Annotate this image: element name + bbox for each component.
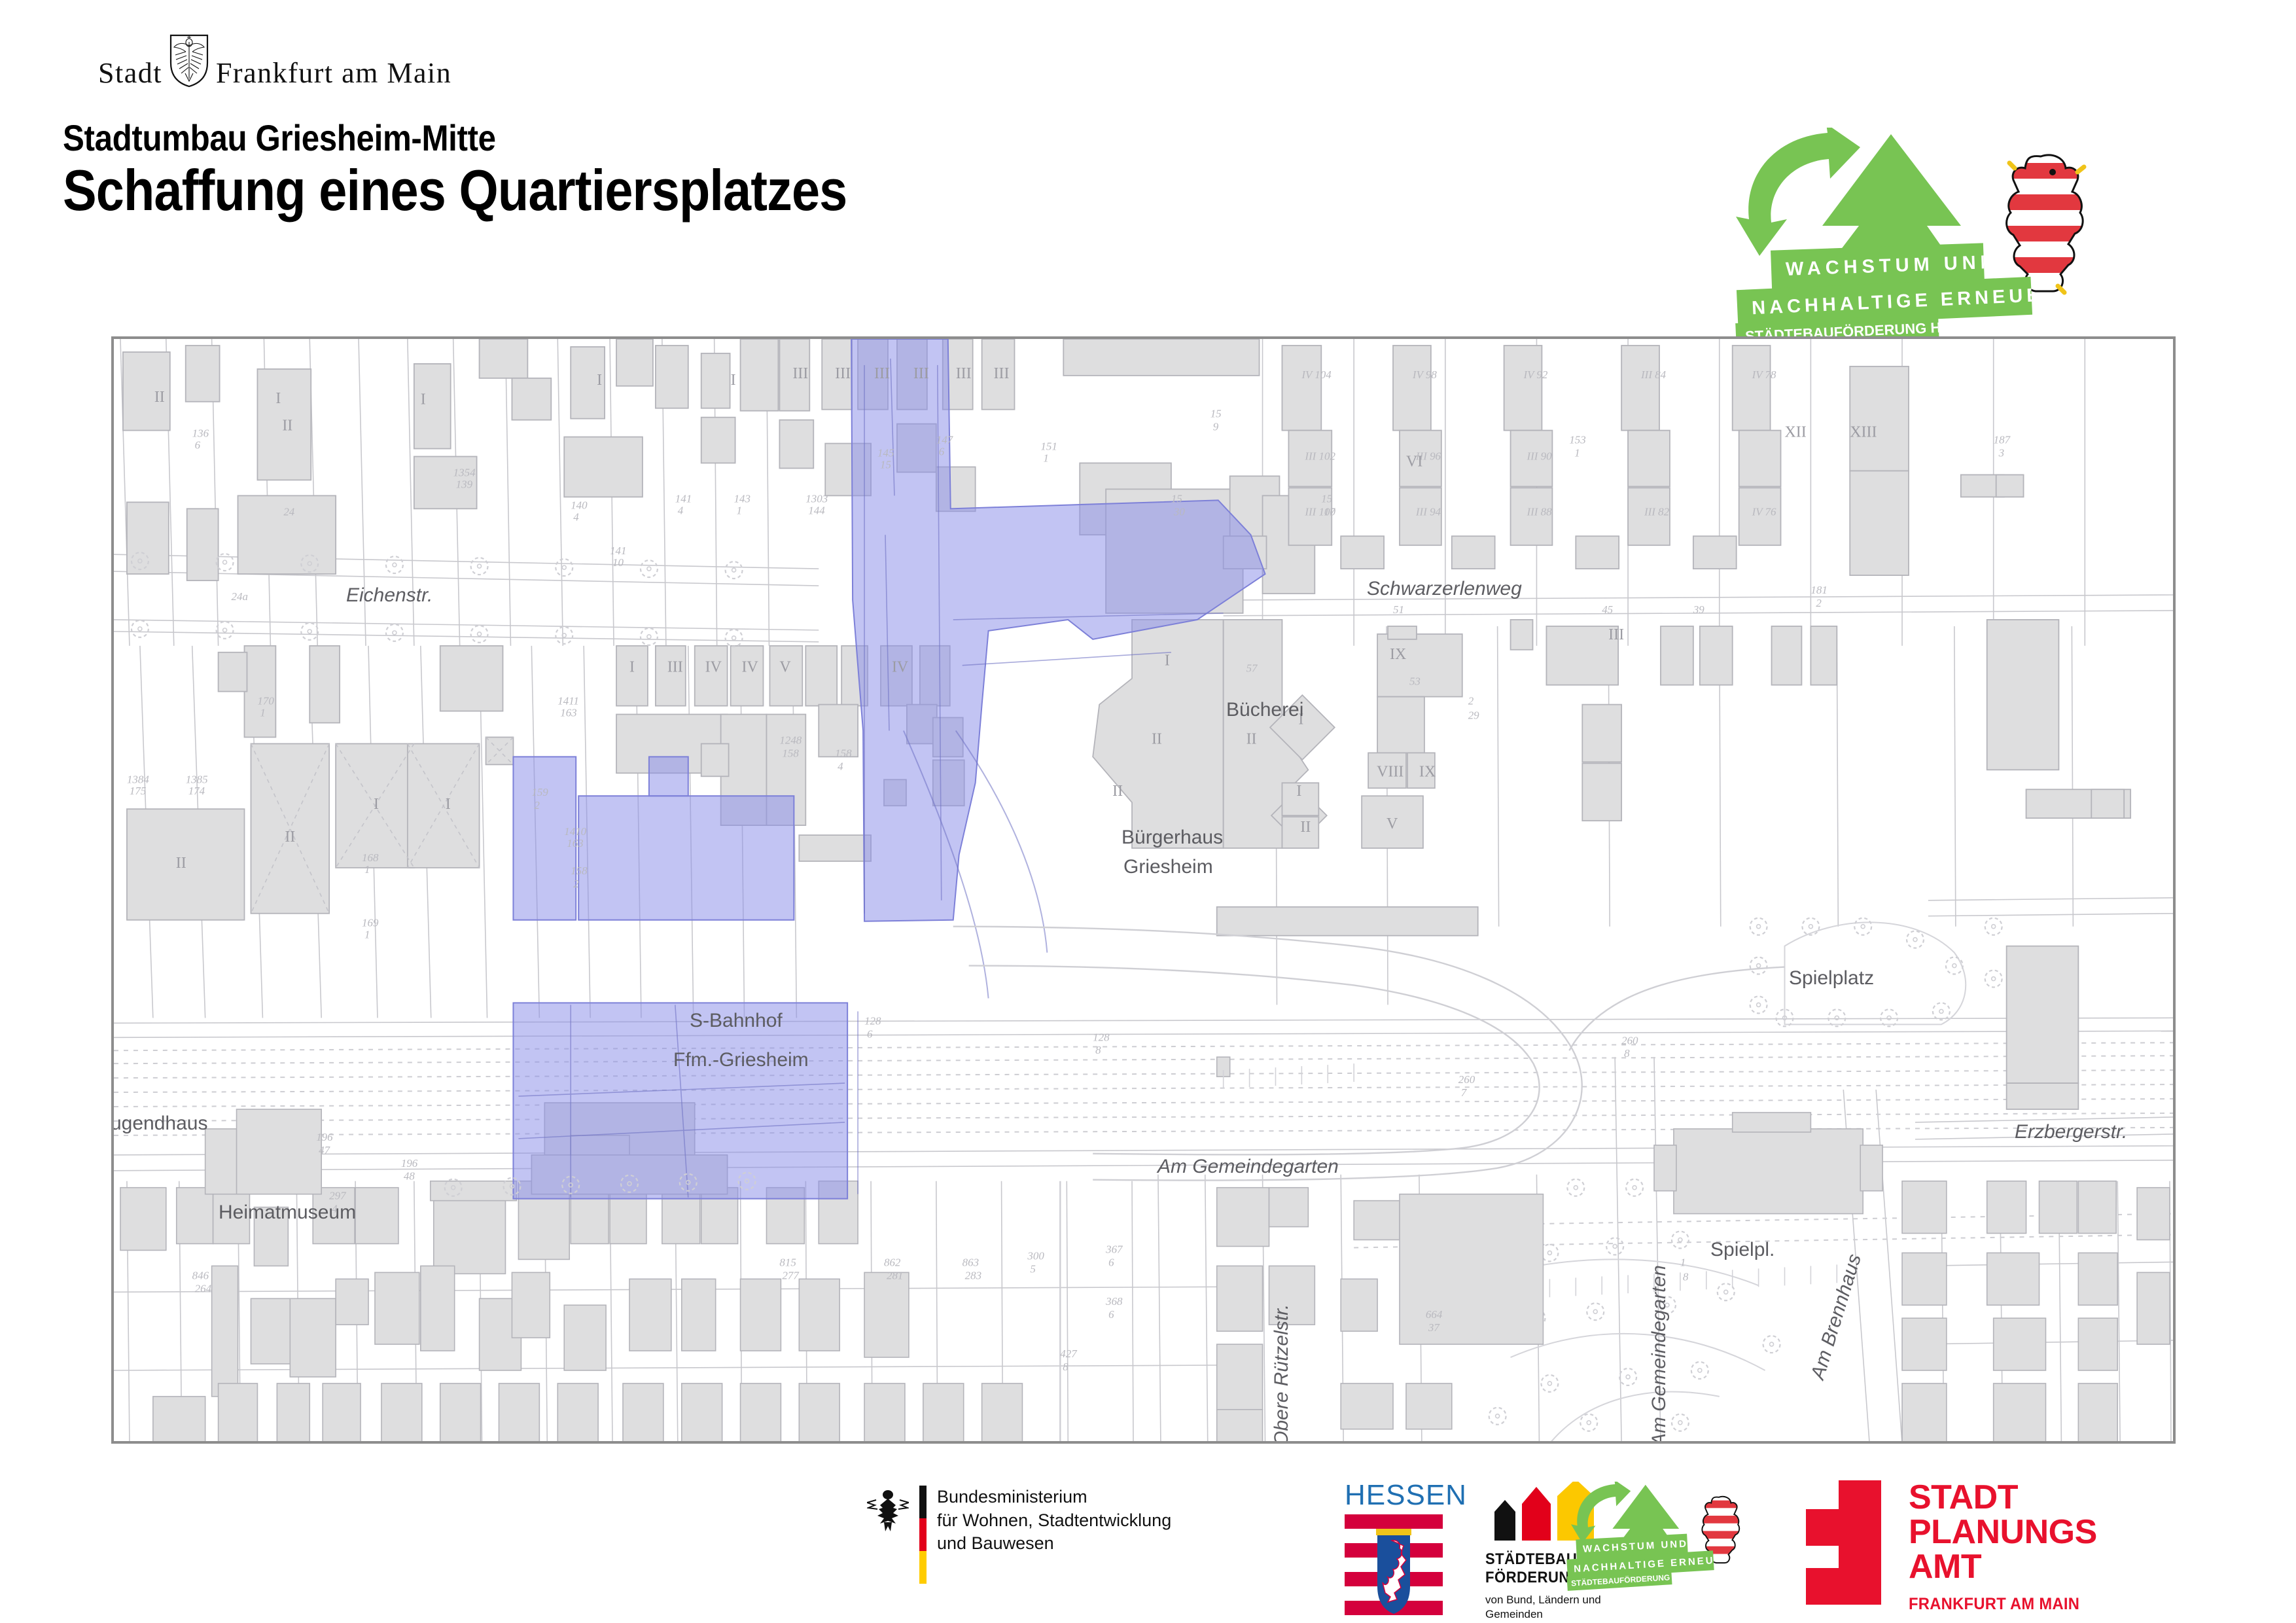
hessen-wordmark: HESSEN	[1345, 1479, 1449, 1512]
svg-text:128: 128	[1093, 1031, 1110, 1043]
svg-text:II: II	[154, 389, 165, 406]
svg-text:6: 6	[939, 446, 945, 458]
svg-text:IV 98: IV 98	[1412, 368, 1437, 381]
svg-text:297: 297	[329, 1190, 347, 1202]
city-logo-word-stadt: Stadt	[98, 59, 162, 88]
svg-text:196: 196	[316, 1131, 333, 1143]
svg-text:6: 6	[1108, 1256, 1114, 1268]
svg-text:158: 158	[571, 865, 588, 877]
svg-text:6: 6	[1108, 1308, 1114, 1321]
svg-text:37: 37	[1428, 1321, 1440, 1334]
stadtplanungsamt-wordmark: STADT PLANUNGS AMT FRANKFURT AM MAIN	[1909, 1480, 2097, 1614]
svg-text:II: II	[176, 855, 186, 872]
svg-text:158: 158	[782, 747, 799, 759]
svg-text:V: V	[779, 659, 790, 676]
hessen-logo: HESSEN	[1345, 1479, 1449, 1622]
spa-line-stadt: STADT	[1909, 1480, 2097, 1515]
svg-text:1354: 1354	[453, 466, 476, 478]
svg-text:15: 15	[1210, 408, 1222, 420]
svg-text:VIII: VIII	[1377, 763, 1404, 780]
svg-text:9: 9	[1213, 421, 1219, 433]
bmwsb-logo: Bundesministerium für Wohnen, Stadtentwi…	[867, 1486, 1171, 1584]
svg-text:141: 141	[675, 492, 692, 505]
svg-text:153: 153	[1569, 434, 1585, 446]
svg-text:III 94: III 94	[1415, 505, 1441, 518]
svg-text:II: II	[1246, 730, 1257, 747]
svg-text:863: 863	[963, 1256, 979, 1268]
spa-line-frankfurt: FRANKFURT AM MAIN	[1909, 1595, 2087, 1614]
svg-text:8: 8	[1063, 1361, 1069, 1373]
svg-text:15: 15	[1321, 492, 1332, 505]
svg-text:281: 281	[887, 1269, 903, 1281]
svg-text:III 102: III 102	[1304, 450, 1335, 463]
svg-text:1385: 1385	[186, 773, 208, 785]
svg-text:IV 76: IV 76	[1752, 505, 1776, 518]
svg-text:1303: 1303	[805, 492, 828, 505]
svg-text:1: 1	[260, 707, 265, 719]
svg-text:143: 143	[734, 492, 751, 505]
svg-text:III: III	[792, 365, 808, 382]
svg-text:187: 187	[1994, 434, 2011, 446]
svg-text:1: 1	[364, 929, 370, 941]
svg-text:862: 862	[884, 1256, 901, 1268]
svg-text:264: 264	[195, 1282, 212, 1294]
svg-text:159: 159	[531, 786, 548, 798]
svg-text:145: 145	[877, 447, 894, 459]
svg-text:I: I	[731, 372, 736, 389]
svg-text:163: 163	[560, 707, 576, 719]
frankfurt-eagle-crest-icon	[169, 34, 209, 88]
svg-text:I: I	[1165, 652, 1170, 669]
svg-text:III: III	[956, 365, 972, 382]
bmwsb-line3: und Bauwesen	[937, 1532, 1171, 1556]
svg-text:2: 2	[1816, 597, 1822, 609]
spa-line-amt: AMT	[1909, 1550, 2097, 1584]
svg-text:260: 260	[1621, 1034, 1638, 1046]
svg-text:175: 175	[130, 785, 146, 797]
map-vector-layer: 1366 2424a 1354139 1404 14110 1414 1431 …	[114, 339, 2173, 1444]
poster-subtitle: Stadtumbau Griesheim-Mitte	[63, 116, 496, 159]
svg-text:I: I	[421, 391, 426, 408]
svg-text:IV: IV	[742, 659, 758, 676]
svg-text:4: 4	[838, 760, 843, 772]
svg-text:128: 128	[864, 1014, 881, 1027]
bundesadler-icon	[867, 1486, 909, 1533]
svg-text:24: 24	[283, 505, 294, 518]
svg-text:8: 8	[1095, 1044, 1101, 1056]
svg-text:368: 368	[1105, 1295, 1123, 1308]
svg-text:III 100: III 100	[1304, 505, 1335, 518]
svg-text:III: III	[1608, 626, 1624, 643]
city-logo-word-frankfurt: Frankfurt am Main	[216, 59, 451, 88]
svg-text:283: 283	[965, 1269, 981, 1281]
bmwsb-line2: für Wohnen, Stadtentwicklung	[937, 1509, 1171, 1533]
svg-text:846: 846	[192, 1269, 209, 1281]
svg-text:I: I	[629, 659, 635, 676]
svg-text:1: 1	[364, 863, 370, 876]
svg-text:1384: 1384	[127, 773, 149, 785]
svg-text:IX: IX	[1419, 763, 1436, 780]
svg-text:1: 1	[1043, 452, 1048, 465]
svg-text:1: 1	[1574, 447, 1580, 459]
svg-text:III: III	[835, 365, 851, 382]
svg-text:1411: 1411	[557, 695, 579, 707]
svg-text:IV 78: IV 78	[1752, 368, 1776, 381]
svg-text:169: 169	[362, 917, 379, 929]
svg-text:53: 53	[1409, 675, 1421, 688]
city-of-frankfurt-logo: Stadt Frankfurt am Main	[98, 34, 451, 88]
svg-text:6: 6	[195, 439, 201, 452]
svg-text:III: III	[874, 365, 890, 382]
bmwsb-name: Bundesministerium für Wohnen, Stadtentwi…	[937, 1486, 1171, 1556]
svg-text:151: 151	[1040, 440, 1057, 453]
svg-text:I: I	[1298, 711, 1303, 728]
svg-text:1: 1	[1680, 1256, 1686, 1268]
svg-text:139: 139	[456, 478, 473, 490]
svg-text:IV: IV	[705, 659, 722, 676]
svg-text:XIII: XIII	[1850, 424, 1877, 441]
svg-text:57: 57	[1246, 662, 1258, 675]
svg-text:IX: IX	[1390, 646, 1406, 663]
svg-text:8: 8	[1683, 1270, 1689, 1283]
svg-text:10: 10	[612, 556, 624, 569]
svg-text:181: 181	[1810, 584, 1827, 596]
svg-text:II: II	[285, 829, 295, 846]
svg-text:II: II	[1112, 783, 1123, 800]
svg-text:II: II	[1152, 730, 1162, 747]
svg-text:300: 300	[1027, 1249, 1044, 1262]
svg-text:29: 29	[1468, 709, 1479, 722]
hessen-lion-icon	[1985, 146, 2089, 296]
svg-text:367: 367	[1105, 1243, 1123, 1255]
svg-text:XII: XII	[1784, 424, 1806, 441]
svg-text:III 84: III 84	[1640, 368, 1667, 381]
hessen-crest-icon	[1345, 1514, 1443, 1619]
svg-text:48: 48	[404, 1170, 415, 1183]
svg-text:8: 8	[1624, 1047, 1630, 1060]
svg-text:V: V	[1386, 815, 1398, 832]
cadastral-map[interactable]: 1366 2424a 1354139 1404 14110 1414 1431 …	[111, 336, 2176, 1444]
svg-text:II: II	[1300, 819, 1311, 836]
svg-text:4: 4	[332, 1203, 338, 1215]
svg-text:III 90: III 90	[1526, 450, 1552, 463]
svg-text:I: I	[374, 796, 379, 813]
svg-text:2: 2	[534, 799, 540, 811]
svg-text:815: 815	[779, 1256, 796, 1268]
stadtplanungsamt-mark-icon	[1806, 1480, 1881, 1605]
svg-text:III 82: III 82	[1644, 505, 1670, 518]
svg-text:15: 15	[1171, 492, 1182, 505]
svg-text:427: 427	[1060, 1347, 1078, 1360]
stadtplanungsamt-logo: STADT PLANUNGS AMT FRANKFURT AM MAIN	[1806, 1480, 2097, 1614]
funding-logo-bar: Bundesministerium für Wohnen, Stadtentwi…	[0, 1472, 2296, 1623]
svg-text:196: 196	[401, 1157, 418, 1169]
svg-text:51: 51	[1393, 603, 1404, 616]
svg-text:39: 39	[1693, 603, 1704, 616]
svg-text:158: 158	[835, 747, 852, 759]
svg-text:1410: 1410	[564, 825, 586, 838]
svg-text:664: 664	[1426, 1308, 1443, 1321]
svg-text:II: II	[282, 418, 292, 435]
svg-text:2: 2	[1468, 695, 1474, 707]
poster-title: Schaffung eines Quartiersplatzes	[63, 157, 847, 224]
svg-text:163: 163	[567, 837, 583, 849]
svg-text:174: 174	[188, 785, 205, 797]
svg-text:1248: 1248	[779, 734, 802, 746]
svg-text:I: I	[1296, 783, 1301, 800]
svg-text:277: 277	[782, 1269, 800, 1281]
svg-text:140: 140	[571, 499, 588, 511]
wachstum-logo-small: WACHSTUM UND NACHHALTIGE ERNEUERUNG STÄD…	[1567, 1482, 1783, 1613]
svg-text:III: III	[913, 365, 929, 382]
svg-text:144: 144	[808, 504, 825, 516]
svg-text:5: 5	[1030, 1262, 1035, 1275]
svg-text:2: 2	[573, 878, 579, 890]
svg-text:45: 45	[1602, 603, 1613, 616]
svg-text:III: III	[994, 365, 1010, 382]
svg-text:3: 3	[1998, 447, 2004, 459]
svg-text:III 88: III 88	[1526, 505, 1552, 518]
svg-text:1: 1	[737, 504, 742, 516]
german-flag-bar	[919, 1486, 927, 1584]
svg-text:I: I	[597, 372, 602, 389]
svg-text:260: 260	[1458, 1073, 1475, 1086]
svg-text:I: I	[446, 796, 451, 813]
svg-text:147: 147	[936, 434, 954, 446]
spa-line-planungs: PLANUNGS	[1909, 1515, 2097, 1550]
svg-text:III: III	[667, 659, 683, 676]
poster-page: Stadt Frankfurt am Main Stadtumbau Gries…	[0, 0, 2296, 1623]
svg-text:IV: IV	[892, 659, 908, 676]
svg-text:47: 47	[319, 1144, 330, 1156]
svg-text:15: 15	[880, 458, 891, 471]
svg-text:24a: 24a	[232, 590, 248, 603]
svg-text:30: 30	[1173, 505, 1185, 518]
svg-text:141: 141	[610, 544, 626, 557]
svg-text:I: I	[275, 390, 281, 407]
svg-text:4: 4	[678, 504, 684, 516]
svg-text:IV 92: IV 92	[1523, 368, 1548, 381]
svg-text:IV 104: IV 104	[1301, 368, 1332, 381]
bmwsb-line1: Bundesministerium	[937, 1486, 1171, 1509]
svg-text:VI: VI	[1406, 454, 1422, 471]
svg-text:6: 6	[867, 1027, 873, 1040]
svg-text:4: 4	[573, 510, 579, 523]
svg-text:136: 136	[192, 427, 209, 440]
svg-text:168: 168	[362, 851, 379, 864]
svg-text:170: 170	[257, 695, 274, 707]
